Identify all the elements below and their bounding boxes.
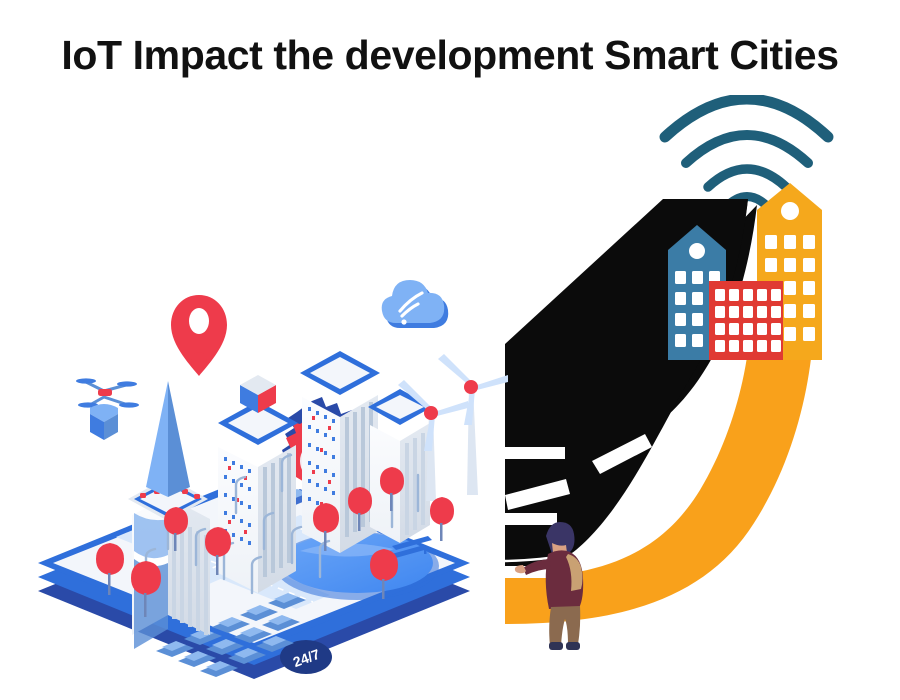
map-pin-dot: [191, 352, 207, 372]
wifi-arc-3: [686, 135, 808, 163]
wind-turbine-right: [438, 354, 508, 495]
page-title: IoT Impact the development Smart Cities: [0, 33, 900, 78]
tower-tall-roof-inner: [310, 357, 370, 389]
city-tree: [430, 497, 454, 541]
bench-leg-right: [424, 546, 427, 554]
kerb-break-3: [505, 513, 557, 525]
cloud-wifi-dot: [401, 319, 406, 324]
pedestrian-pants: [549, 606, 580, 646]
slide-canvas: IoT Impact the development Smart Cities: [0, 0, 900, 700]
building-red: [709, 281, 783, 360]
drone-body: [98, 389, 112, 396]
wifi-arcs: [665, 99, 828, 208]
tower-tall: [300, 351, 380, 553]
map-pin-hole: [189, 308, 209, 334]
kerb-break-2: [505, 447, 565, 459]
turbine-left-hub: [424, 406, 438, 420]
tower-mid: [218, 375, 298, 593]
illustration-container: 24/7: [0, 95, 900, 700]
pedestrian-boot-left: [549, 642, 563, 650]
building-yellow-roof-circle: [781, 202, 799, 220]
turbine-right-hub: [464, 380, 478, 394]
tower-right: [368, 389, 432, 543]
cloud-body: [382, 280, 445, 323]
pedestrian-boot-right: [566, 642, 580, 650]
cloud-wifi-icon: [382, 280, 449, 328]
wifi-arc-2: [708, 169, 786, 187]
delivery-drone: [76, 378, 139, 440]
tower-spire-cone-right: [168, 381, 190, 497]
smart-city-illustration: 24/7: [0, 95, 900, 700]
tower-spire-cone-left: [146, 381, 168, 497]
tower-right-windows: [405, 433, 425, 535]
tower-spire-mural-1: [134, 513, 168, 561]
building-blue-roof-circle: [689, 243, 705, 259]
map-pin: [171, 295, 227, 376]
